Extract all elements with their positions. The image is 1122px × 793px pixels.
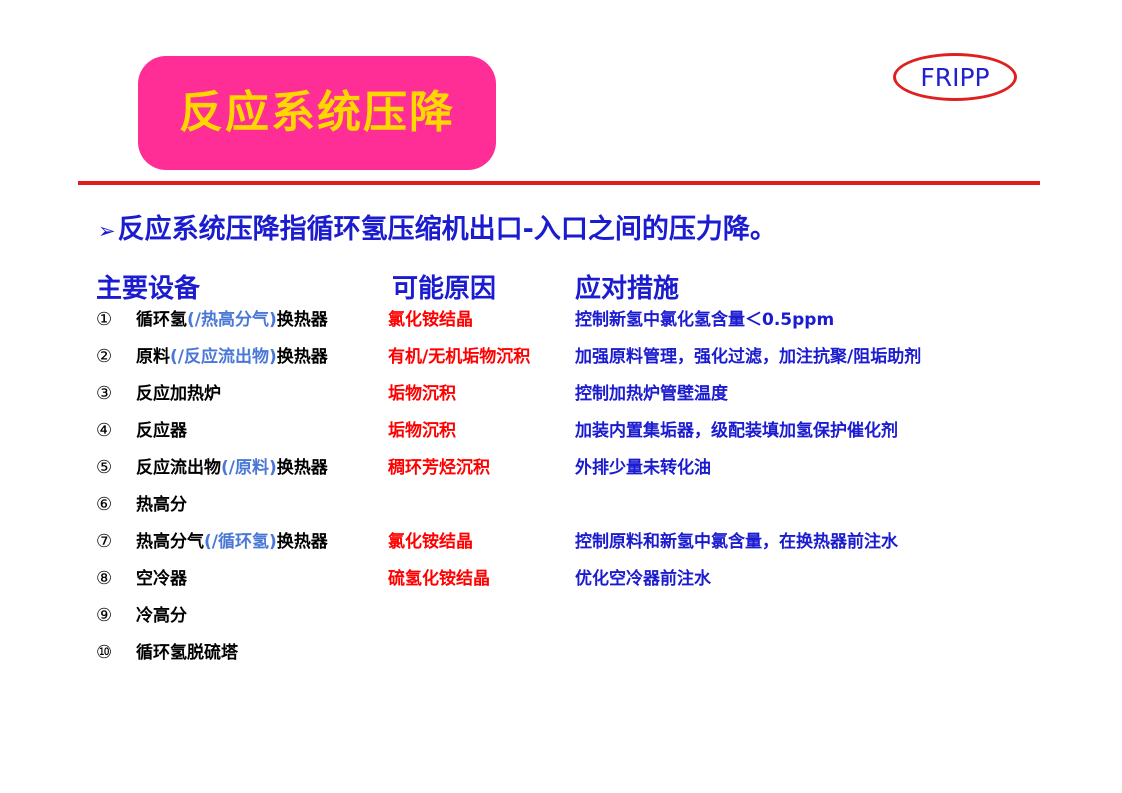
row-number: ⑦: [96, 530, 112, 554]
table-row: ⑩循环氢脱硫塔: [96, 641, 1096, 678]
table-row: ⑧空冷器硫氢化铵结晶优化空冷器前注水: [96, 567, 1096, 604]
table-row: ④反应器垢物沉积加装内置集垢器，级配装填加氢保护催化剂: [96, 419, 1096, 456]
equipment-alternate: (/反应流出物): [170, 347, 277, 367]
table-row: ⑤反应流出物(/原料)换热器稠环芳烃沉积外排少量未转化油: [96, 456, 1096, 493]
cause-text: 垢物沉积: [388, 382, 456, 406]
equipment-name: 热高分气(/循环氢)换热器: [136, 530, 328, 554]
equipment-name: 冷高分: [136, 604, 187, 628]
equipment-name: 热高分: [136, 493, 187, 517]
logo-label: FRIPP: [893, 53, 1017, 101]
equipment-main: 反应流出物: [136, 458, 221, 478]
slide-canvas: 反应系统压降 FRIPP ➢ 反应系统压降指循环氢压缩机出口-入口之间的压力降。…: [0, 0, 1122, 793]
matrix-header-row: 主要设备 可能原因 应对措施: [96, 268, 1096, 308]
measure-text: 控制原料和新氢中氯含量，在换热器前注水: [575, 530, 898, 554]
row-number: ④: [96, 419, 112, 443]
equipment-main: 空冷器: [136, 569, 187, 589]
bullet-statement: ➢ 反应系统压降指循环氢压缩机出口-入口之间的压力降。: [98, 207, 1078, 246]
header-divider: [78, 181, 1040, 185]
table-row: ⑥热高分: [96, 493, 1096, 530]
table-row: ③反应加热炉垢物沉积控制加热炉管壁温度: [96, 382, 1096, 419]
equipment-main: 原料: [136, 347, 170, 367]
equipment-name: 反应流出物(/原料)换热器: [136, 456, 328, 480]
table-row: ①循环氢(/热高分气)换热器氯化铵结晶控制新氢中氯化氢含量＜0.5ppm: [96, 308, 1096, 345]
equipment-name: 原料(/反应流出物)换热器: [136, 345, 328, 369]
row-number: ⑩: [96, 641, 112, 665]
title-banner: 反应系统压降: [138, 56, 496, 170]
equipment-alternate: (/循环氢): [204, 532, 277, 552]
column-header-cause: 可能原因: [392, 268, 496, 305]
equipment-suffix: 换热器: [277, 347, 328, 367]
row-number: ③: [96, 382, 112, 406]
equipment-name: 反应加热炉: [136, 382, 221, 406]
equipment-suffix: 换热器: [277, 310, 328, 330]
measure-text: 加强原料管理，强化过滤，加注抗聚/阻垢助剂: [575, 345, 921, 369]
fripp-logo: FRIPP: [893, 53, 1021, 105]
equipment-name: 空冷器: [136, 567, 187, 591]
bullet-arrow-icon: ➢: [98, 219, 116, 243]
cause-text: 氯化铵结晶: [388, 308, 473, 332]
measure-text: 控制新氢中氯化氢含量＜0.5ppm: [575, 308, 834, 332]
cause-text: 有机/无机垢物沉积: [388, 345, 530, 369]
equipment-main: 循环氢脱硫塔: [136, 643, 238, 663]
measure-text: 优化空冷器前注水: [575, 567, 711, 591]
bullet-statement-text: 反应系统压降指循环氢压缩机出口-入口之间的压力降。: [118, 207, 777, 246]
equipment-suffix: 换热器: [277, 532, 328, 552]
cause-text: 垢物沉积: [388, 419, 456, 443]
equipment-name: 反应器: [136, 419, 187, 443]
measure-text: 控制加热炉管壁温度: [575, 382, 728, 406]
equipment-alternate: (/原料): [221, 458, 277, 478]
table-row: ②原料(/反应流出物)换热器有机/无机垢物沉积加强原料管理，强化过滤，加注抗聚/…: [96, 345, 1096, 382]
equipment-main: 热高分气: [136, 532, 204, 552]
equipment-main: 热高分: [136, 495, 187, 515]
cause-text: 稠环芳烃沉积: [388, 456, 490, 480]
row-number: ②: [96, 345, 112, 369]
page-title: 反应系统压降: [179, 91, 455, 135]
column-header-equipment: 主要设备: [96, 268, 200, 305]
equipment-alternate: (/热高分气): [187, 310, 277, 330]
cause-text: 硫氢化铵结晶: [388, 567, 490, 591]
equipment-main: 反应器: [136, 421, 187, 441]
cause-text: 氯化铵结晶: [388, 530, 473, 554]
row-number: ⑨: [96, 604, 112, 628]
measure-text: 外排少量未转化油: [575, 456, 711, 480]
row-number: ⑥: [96, 493, 112, 517]
equipment-name: 循环氢(/热高分气)换热器: [136, 308, 328, 332]
measure-text: 加装内置集垢器，级配装填加氢保护催化剂: [575, 419, 898, 443]
row-number: ⑤: [96, 456, 112, 480]
column-header-measure: 应对措施: [575, 268, 679, 305]
equipment-suffix: 换热器: [277, 458, 328, 478]
equipment-name: 循环氢脱硫塔: [136, 641, 238, 665]
equipment-matrix: 主要设备 可能原因 应对措施 ①循环氢(/热高分气)换热器氯化铵结晶控制新氢中氯…: [96, 268, 1096, 678]
row-number: ⑧: [96, 567, 112, 591]
equipment-main: 冷高分: [136, 606, 187, 626]
table-row: ⑨冷高分: [96, 604, 1096, 641]
matrix-rows: ①循环氢(/热高分气)换热器氯化铵结晶控制新氢中氯化氢含量＜0.5ppm②原料(…: [96, 308, 1096, 678]
row-number: ①: [96, 308, 112, 332]
equipment-main: 循环氢: [136, 310, 187, 330]
equipment-main: 反应加热炉: [136, 384, 221, 404]
table-row: ⑦热高分气(/循环氢)换热器氯化铵结晶控制原料和新氢中氯含量，在换热器前注水: [96, 530, 1096, 567]
